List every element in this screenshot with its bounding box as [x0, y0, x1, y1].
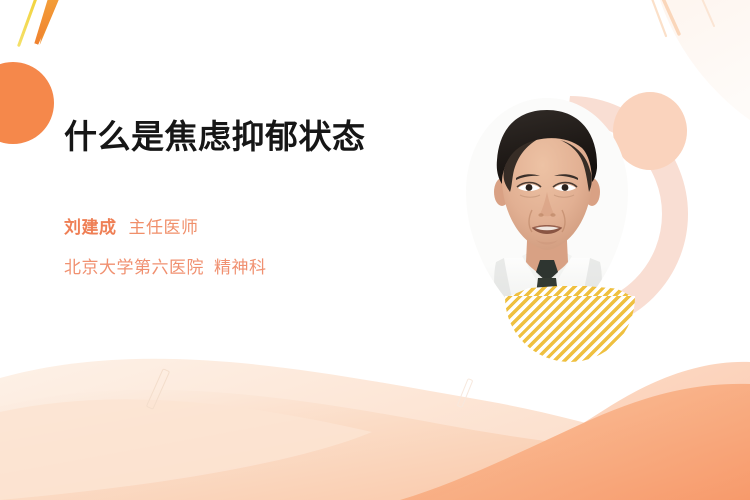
page-title: 什么是焦虑抑郁状态 [64, 118, 424, 156]
speaker-department: 精神科 [214, 253, 267, 278]
speaker-affiliation-row: 北京大学第六医院 精神科 [64, 253, 424, 278]
yellow-striped-half-disc [505, 296, 635, 362]
speaker-name-row: 刘建成 主任医师 [64, 213, 424, 238]
faint-outline-stroke-icon [146, 368, 170, 410]
speaker-role: 主任医师 [129, 213, 199, 238]
orange-circle-decoration [0, 62, 54, 144]
speaker-byline: 刘建成 主任医师 北京大学第六医院 精神科 [64, 213, 424, 278]
orange-diagonal-stroke-icon [31, 0, 63, 46]
speaker-name: 刘建成 [64, 213, 117, 238]
slide-text-block: 什么是焦虑抑郁状态 刘建成 主任医师 北京大学第六医院 精神科 [64, 118, 424, 278]
faint-outline-stroke-secondary-icon [457, 378, 474, 408]
speaker-hospital: 北京大学第六医院 [64, 253, 204, 278]
presentation-slide: 什么是焦虑抑郁状态 刘建成 主任医师 北京大学第六医院 精神科 [0, 0, 750, 500]
yellow-diagonal-stroke-icon [17, 0, 39, 47]
